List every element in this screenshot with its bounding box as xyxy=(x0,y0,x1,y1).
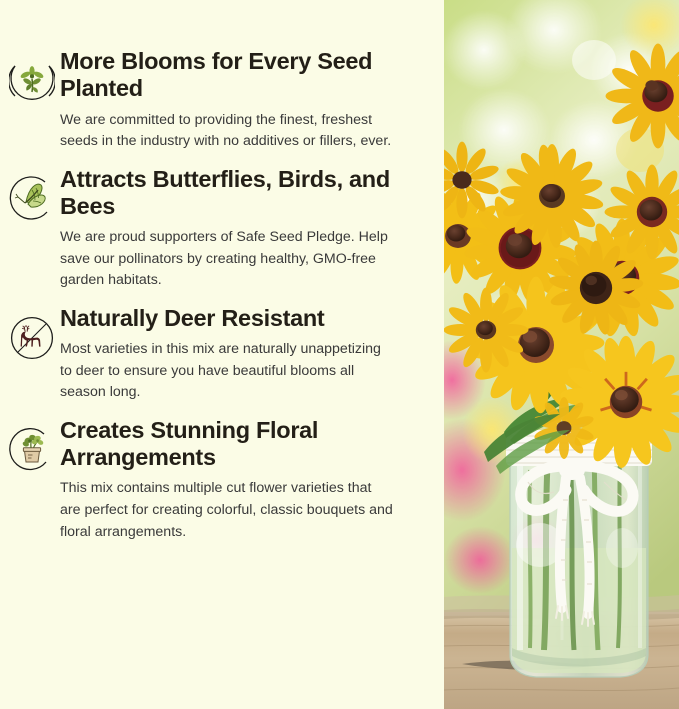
feature-item-attracts-pollinators: Attracts Butterflies, Birds, and Bees We… xyxy=(0,166,444,292)
feature-icon-slot xyxy=(4,305,60,366)
butterfly-icon xyxy=(9,176,55,227)
feature-title: Creates Stunning Floral Arrangements xyxy=(60,417,390,472)
product-lifestyle-photo xyxy=(444,0,679,709)
feature-description: We are committed to providing the finest… xyxy=(60,110,395,153)
feature-text-block: More Blooms for Every Seed Planted We ar… xyxy=(60,48,444,153)
feature-icon-slot xyxy=(4,166,60,227)
feature-item-deer-resistant: Naturally Deer Resistant Most varieties … xyxy=(0,305,444,404)
feature-icon-slot xyxy=(4,417,60,478)
feature-title: Attracts Butterflies, Birds, and Bees xyxy=(60,166,390,221)
feature-text-block: Creates Stunning Floral Arrangements Thi… xyxy=(60,417,444,543)
feature-description: Most varieties in this mix are naturally… xyxy=(60,339,395,404)
potted-plant-icon xyxy=(9,427,55,478)
flower-sprout-icon xyxy=(9,58,55,109)
feature-description: We are proud supporters of Safe Seed Ple… xyxy=(60,227,395,292)
feature-item-more-blooms: More Blooms for Every Seed Planted We ar… xyxy=(0,48,444,153)
product-feature-panel: More Blooms for Every Seed Planted We ar… xyxy=(0,0,679,709)
feature-title: More Blooms for Every Seed Planted xyxy=(60,48,390,103)
no-deer-icon xyxy=(9,315,55,366)
feature-item-floral-arrangements: Creates Stunning Floral Arrangements Thi… xyxy=(0,417,444,543)
feature-title: Naturally Deer Resistant xyxy=(60,305,390,332)
feature-text-block: Naturally Deer Resistant Most varieties … xyxy=(60,305,444,404)
feature-text-block: Attracts Butterflies, Birds, and Bees We… xyxy=(60,166,444,292)
features-column: More Blooms for Every Seed Planted We ar… xyxy=(0,0,444,709)
feature-icon-slot xyxy=(4,48,60,109)
feature-description: This mix contains multiple cut flower va… xyxy=(60,478,395,543)
